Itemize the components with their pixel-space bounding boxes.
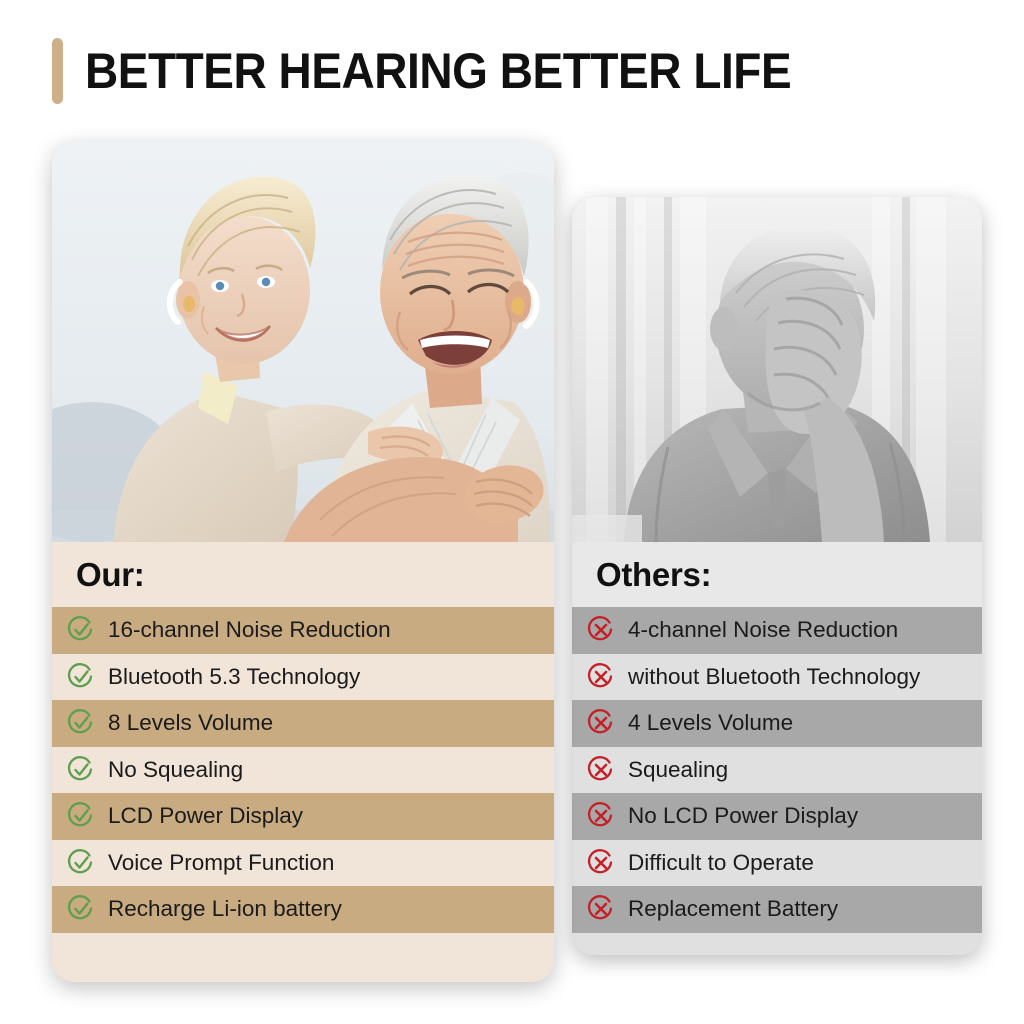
list-item-label: 4 Levels Volume xyxy=(628,712,793,735)
list-item: Voice Prompt Function xyxy=(52,840,554,887)
check-circle-icon xyxy=(66,894,96,924)
our-card-footer xyxy=(52,933,554,983)
list-item-label: 8 Levels Volume xyxy=(108,712,273,735)
comparison-infographic: BETTER HEARING BETTER LIFE xyxy=(0,0,1024,1024)
our-photo xyxy=(52,142,554,542)
list-item-label: Voice Prompt Function xyxy=(108,852,334,875)
check-circle-icon xyxy=(66,662,96,692)
page-title: BETTER HEARING BETTER LIFE xyxy=(85,46,791,96)
our-feature-list: 16-channel Noise Reduction Bluetooth 5.3… xyxy=(52,607,554,933)
others-heading: Others: xyxy=(596,556,711,594)
list-item-label: Difficult to Operate xyxy=(628,852,814,875)
list-item: Difficult to Operate xyxy=(572,840,982,887)
check-circle-icon xyxy=(66,801,96,831)
check-circle-icon xyxy=(66,755,96,785)
list-item: Bluetooth 5.3 Technology xyxy=(52,654,554,701)
list-item-label: 16-channel Noise Reduction xyxy=(108,619,391,642)
others-card-footer xyxy=(572,933,982,956)
others-photo xyxy=(572,197,982,542)
x-circle-icon xyxy=(586,755,616,785)
our-card: Our: 16-channel Noise Reduction Bluetoot… xyxy=(52,142,554,982)
list-item-label: Recharge Li-ion battery xyxy=(108,898,342,921)
list-item: 8 Levels Volume xyxy=(52,700,554,747)
list-item-label: Replacement Battery xyxy=(628,898,838,921)
x-circle-icon xyxy=(586,615,616,645)
list-item-label: 4-channel Noise Reduction xyxy=(628,619,898,642)
check-circle-icon xyxy=(66,708,96,738)
list-item: No Squealing xyxy=(52,747,554,794)
check-circle-icon xyxy=(66,615,96,645)
others-card: Others: 4-channel Noise Reduction withou… xyxy=(572,197,982,955)
list-item: 16-channel Noise Reduction xyxy=(52,607,554,654)
others-column-header: Others: xyxy=(572,542,982,607)
list-item: 4 Levels Volume xyxy=(572,700,982,747)
list-item: 4-channel Noise Reduction xyxy=(572,607,982,654)
list-item: Replacement Battery xyxy=(572,886,982,933)
x-circle-icon xyxy=(586,662,616,692)
x-circle-icon xyxy=(586,848,616,878)
x-circle-icon xyxy=(586,894,616,924)
list-item-label: Squealing xyxy=(628,759,728,782)
list-item: Recharge Li-ion battery xyxy=(52,886,554,933)
list-item: Squealing xyxy=(572,747,982,794)
check-circle-icon xyxy=(66,848,96,878)
list-item-label: Bluetooth 5.3 Technology xyxy=(108,666,360,689)
list-item-label: LCD Power Display xyxy=(108,805,303,828)
list-item-label: No LCD Power Display xyxy=(628,805,858,828)
list-item: LCD Power Display xyxy=(52,793,554,840)
our-heading: Our: xyxy=(76,556,144,594)
our-column-header: Our: xyxy=(52,542,554,607)
others-feature-list: 4-channel Noise Reduction without Blueto… xyxy=(572,607,982,933)
list-item-label: No Squealing xyxy=(108,759,243,782)
list-item: No LCD Power Display xyxy=(572,793,982,840)
x-circle-icon xyxy=(586,801,616,831)
list-item-label: without Bluetooth Technology xyxy=(628,666,920,689)
list-item: without Bluetooth Technology xyxy=(572,654,982,701)
accent-bar xyxy=(52,38,63,104)
x-circle-icon xyxy=(586,708,616,738)
page-title-row: BETTER HEARING BETTER LIFE xyxy=(52,38,853,104)
